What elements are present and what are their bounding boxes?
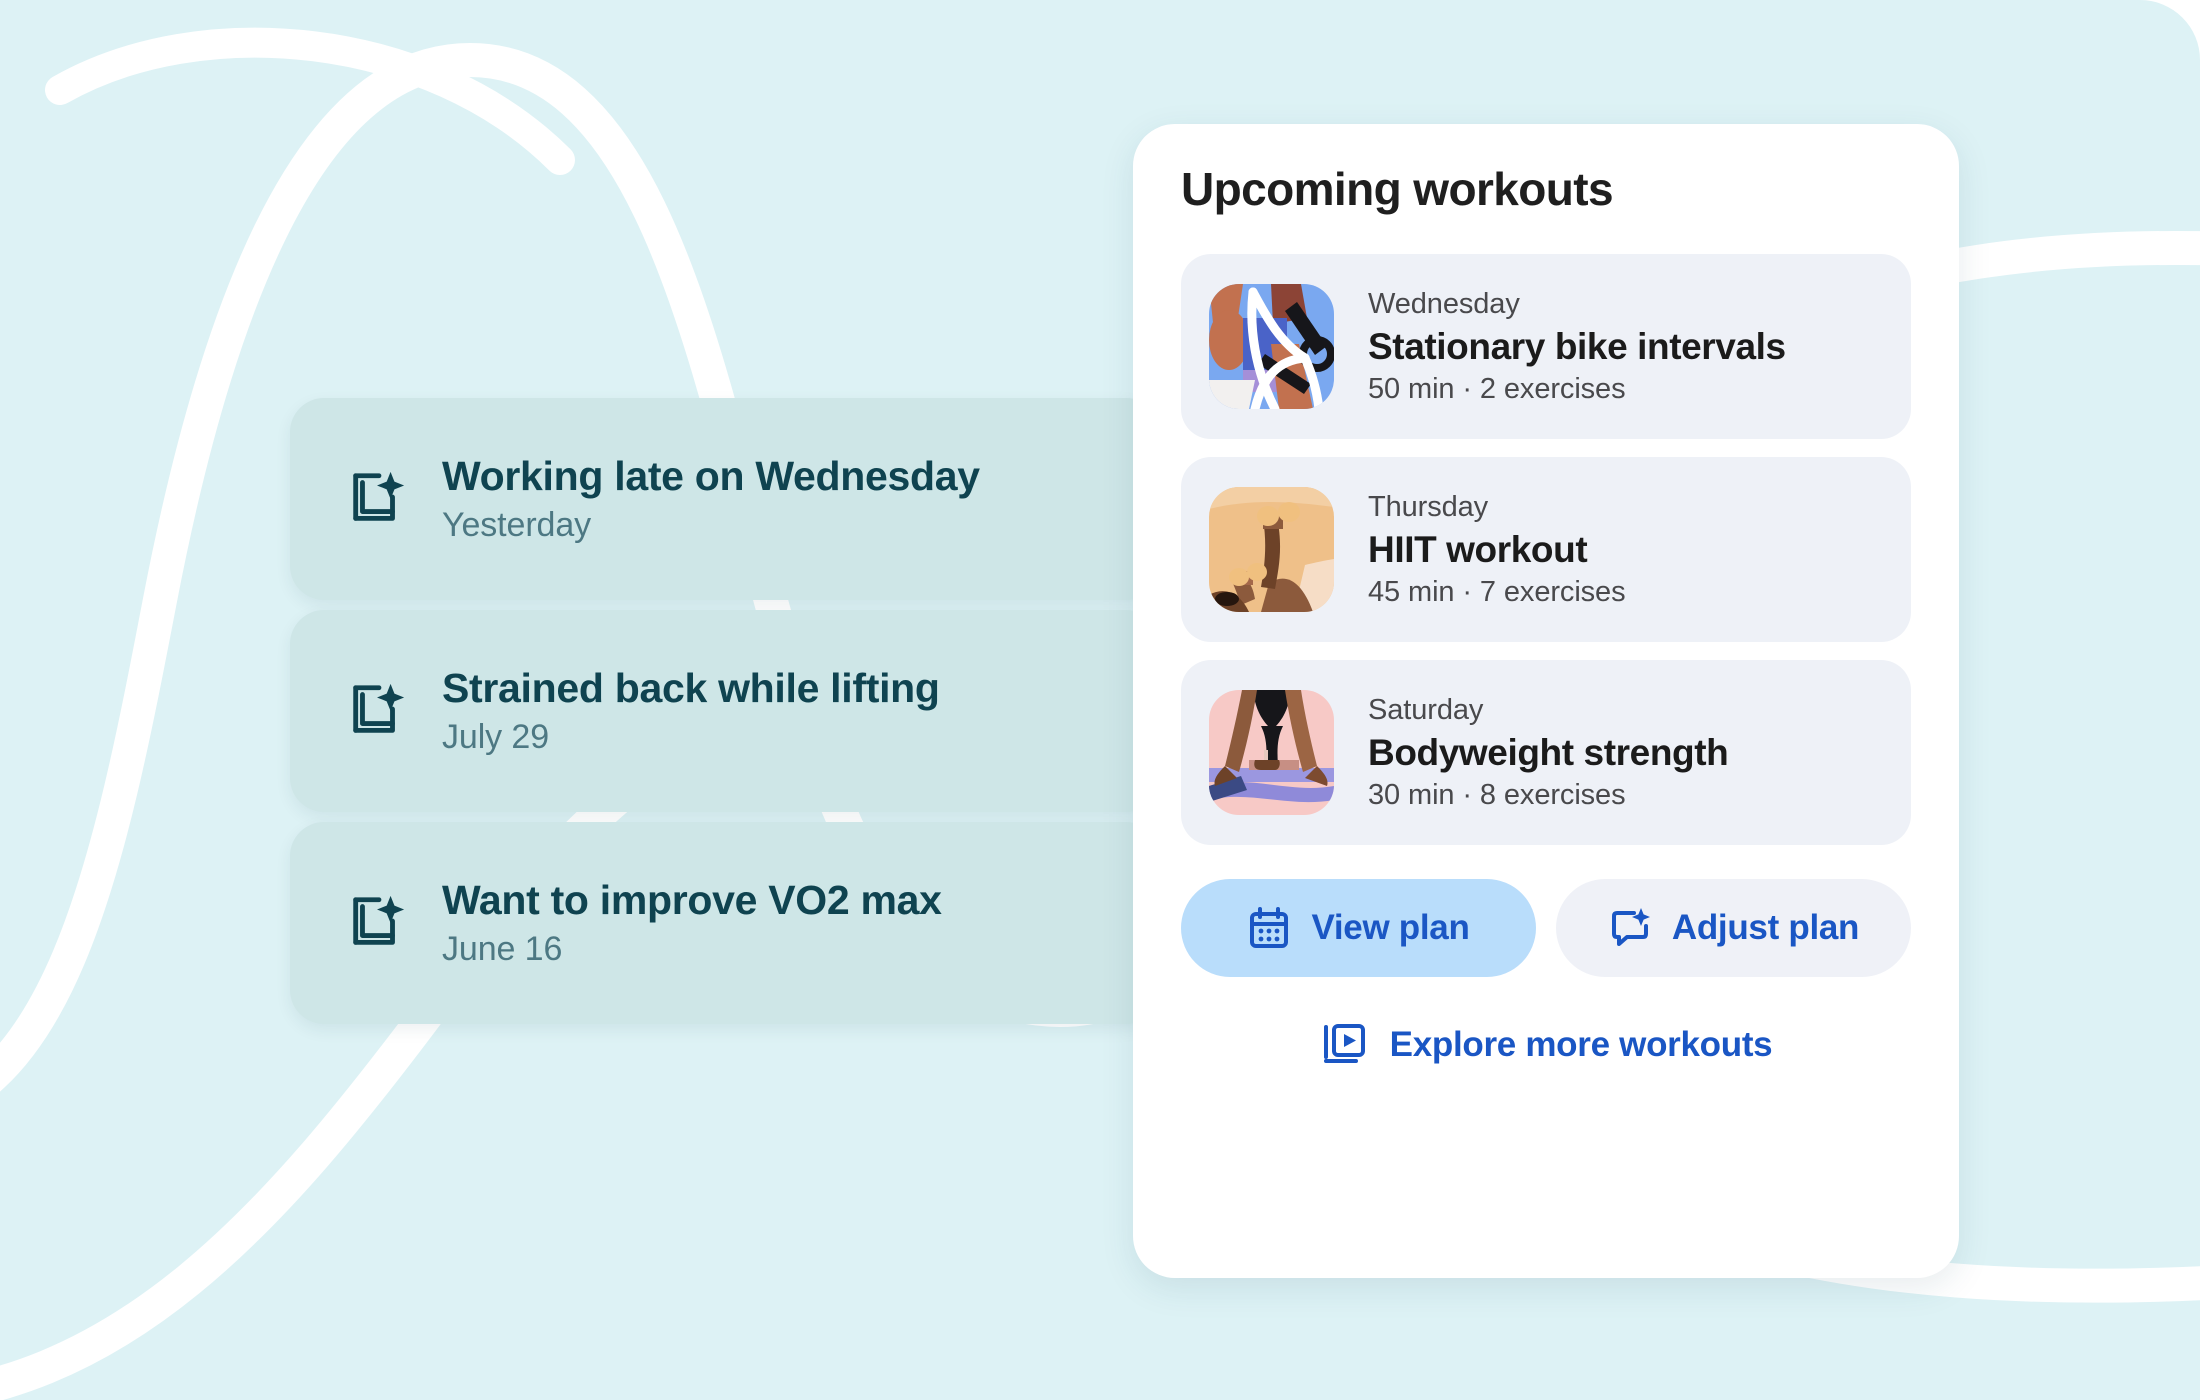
- workout-list: Wednesday Stationary bike intervals 50 m…: [1181, 254, 1911, 845]
- screenshot-root: Working late on Wednesday Yesterday Stra…: [0, 0, 2200, 1400]
- adjust-plan-button[interactable]: Adjust plan: [1556, 879, 1911, 977]
- journal-card-text: Working late on Wednesday Yesterday: [442, 453, 980, 545]
- journal-card-title: Working late on Wednesday: [442, 453, 980, 500]
- view-plan-button[interactable]: View plan: [1181, 879, 1536, 977]
- workout-name: Bodyweight strength: [1368, 732, 1728, 774]
- view-plan-label: View plan: [1311, 908, 1469, 948]
- journal-card-text: Strained back while lifting July 29: [442, 665, 940, 757]
- page-title: Upcoming workouts: [1181, 162, 1911, 216]
- workout-name: Stationary bike intervals: [1368, 326, 1786, 368]
- adjust-plan-label: Adjust plan: [1672, 908, 1859, 948]
- video-library-icon: [1320, 1021, 1368, 1069]
- workout-row[interactable]: Saturday Bodyweight strength 30 min · 8 …: [1181, 660, 1911, 845]
- journal-sparkle-icon: [346, 468, 408, 530]
- workout-thumbnail-plank: [1209, 690, 1334, 815]
- workout-day: Wednesday: [1368, 288, 1786, 321]
- journal-card[interactable]: Strained back while lifting July 29: [290, 610, 1160, 812]
- journal-sparkle-icon: [346, 680, 408, 742]
- journal-card-text: Want to improve VO2 max June 16: [442, 877, 942, 969]
- workout-meta: 30 min · 8 exercises: [1368, 779, 1728, 812]
- journal-card-title: Want to improve VO2 max: [442, 877, 942, 924]
- journal-card[interactable]: Working late on Wednesday Yesterday: [290, 398, 1160, 600]
- journal-sparkle-icon: [346, 892, 408, 954]
- journal-card[interactable]: Want to improve VO2 max June 16: [290, 822, 1160, 1024]
- workout-name: HIIT workout: [1368, 529, 1626, 571]
- explore-more-workouts-label: Explore more workouts: [1390, 1025, 1773, 1065]
- workout-text: Wednesday Stationary bike intervals 50 m…: [1368, 288, 1786, 406]
- workout-day: Saturday: [1368, 694, 1728, 727]
- workout-thumbnail-cyclist: [1209, 284, 1334, 409]
- workout-day: Thursday: [1368, 491, 1626, 524]
- panel-actions: View plan Adjust plan: [1181, 879, 1911, 977]
- workout-meta: 50 min · 2 exercises: [1368, 373, 1786, 406]
- journal-entry-list: Working late on Wednesday Yesterday Stra…: [290, 398, 1160, 1024]
- chat-sparkle-icon: [1608, 906, 1652, 950]
- journal-card-date: July 29: [442, 718, 940, 757]
- journal-card-date: Yesterday: [442, 506, 980, 545]
- workout-row[interactable]: Thursday HIIT workout 45 min · 7 exercis…: [1181, 457, 1911, 642]
- workout-row[interactable]: Wednesday Stationary bike intervals 50 m…: [1181, 254, 1911, 439]
- journal-card-date: June 16: [442, 930, 942, 969]
- upcoming-workouts-panel: Upcoming workouts: [1133, 124, 1959, 1278]
- workout-text: Saturday Bodyweight strength 30 min · 8 …: [1368, 694, 1728, 812]
- explore-more-workouts-link[interactable]: Explore more workouts: [1181, 1021, 1911, 1069]
- journal-card-title: Strained back while lifting: [442, 665, 940, 712]
- workout-meta: 45 min · 7 exercises: [1368, 576, 1626, 609]
- calendar-icon: [1247, 906, 1291, 950]
- workout-thumbnail-dumbbell: [1209, 487, 1334, 612]
- workout-text: Thursday HIIT workout 45 min · 7 exercis…: [1368, 491, 1626, 609]
